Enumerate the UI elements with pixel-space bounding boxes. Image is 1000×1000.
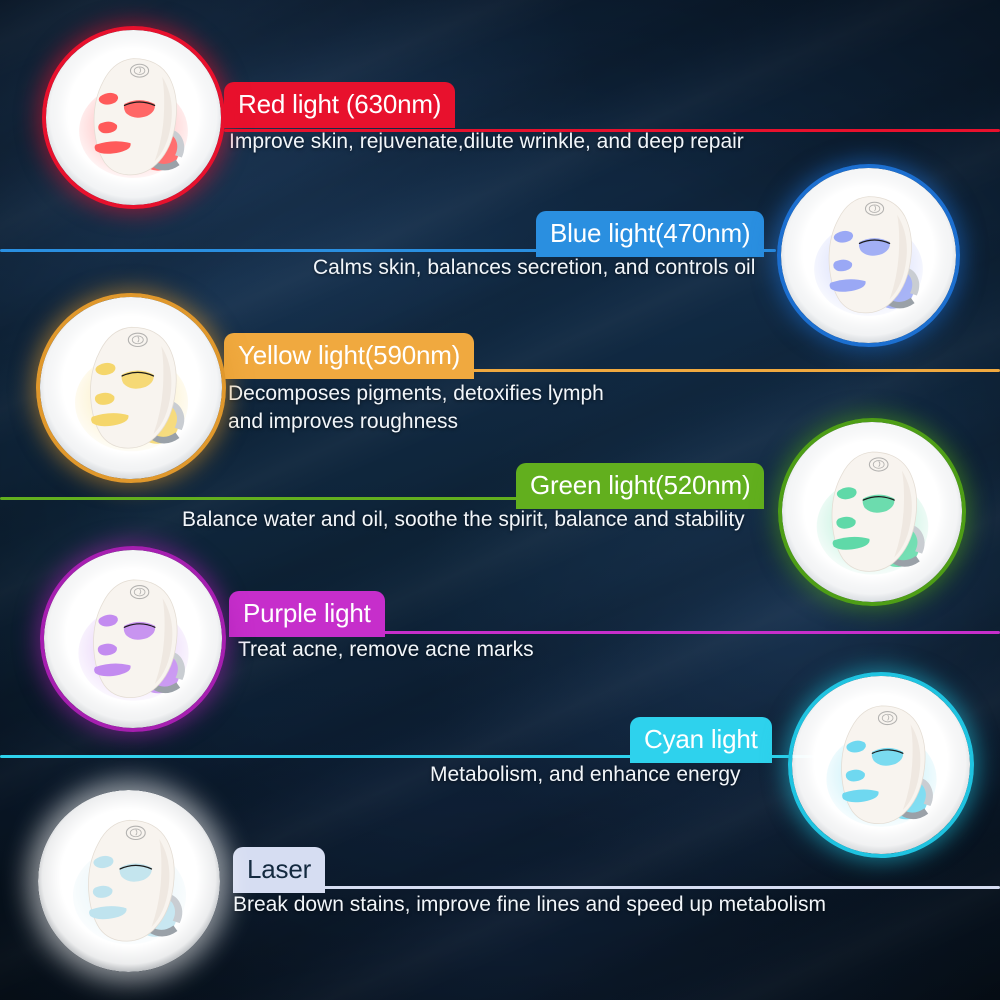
mask-photo-purple	[40, 546, 226, 732]
led-face-mask-illustration	[58, 42, 209, 193]
light-description-purple: Treat acne, remove acne marks	[238, 636, 534, 664]
light-description-blue: Calms skin, balances secretion, and cont…	[313, 254, 755, 282]
infographic-page: Red light (630nm)Improve skin, rejuvenat…	[0, 0, 1000, 1000]
light-description-laser: Break down stains, improve fine lines an…	[233, 891, 826, 919]
led-face-mask-illustration	[795, 435, 950, 590]
light-description-green: Balance water and oil, soothe the spirit…	[182, 506, 745, 534]
light-description-cyan: Metabolism, and enhance energy	[430, 761, 741, 789]
led-face-mask-illustration	[793, 180, 944, 331]
mask-photo-laser	[38, 790, 220, 972]
mask-photo-yellow	[36, 293, 226, 483]
light-label-green[interactable]: Green light(520nm)	[516, 463, 764, 509]
light-label-cyan[interactable]: Cyan light	[630, 717, 772, 763]
divider-line-laser	[233, 886, 1000, 889]
mask-photo-cyan	[788, 672, 974, 858]
led-face-mask-illustration	[57, 563, 210, 716]
light-description-yellow: Decomposes pigments, detoxifies lymph an…	[228, 380, 604, 435]
light-label-laser[interactable]: Laser	[233, 847, 325, 893]
led-face-mask-illustration	[805, 689, 958, 842]
light-label-yellow[interactable]: Yellow light(590nm)	[224, 333, 474, 379]
light-label-purple[interactable]: Purple light	[229, 591, 385, 637]
led-face-mask-illustration	[51, 803, 208, 960]
light-description-red: Improve skin, rejuvenate,dilute wrinkle,…	[229, 128, 744, 156]
mask-photo-blue	[777, 164, 960, 347]
mask-photo-red	[42, 26, 225, 209]
mask-photo-green	[778, 418, 966, 606]
light-label-blue[interactable]: Blue light(470nm)	[536, 211, 764, 257]
light-label-red[interactable]: Red light (630nm)	[224, 82, 455, 128]
led-face-mask-illustration	[53, 310, 210, 467]
